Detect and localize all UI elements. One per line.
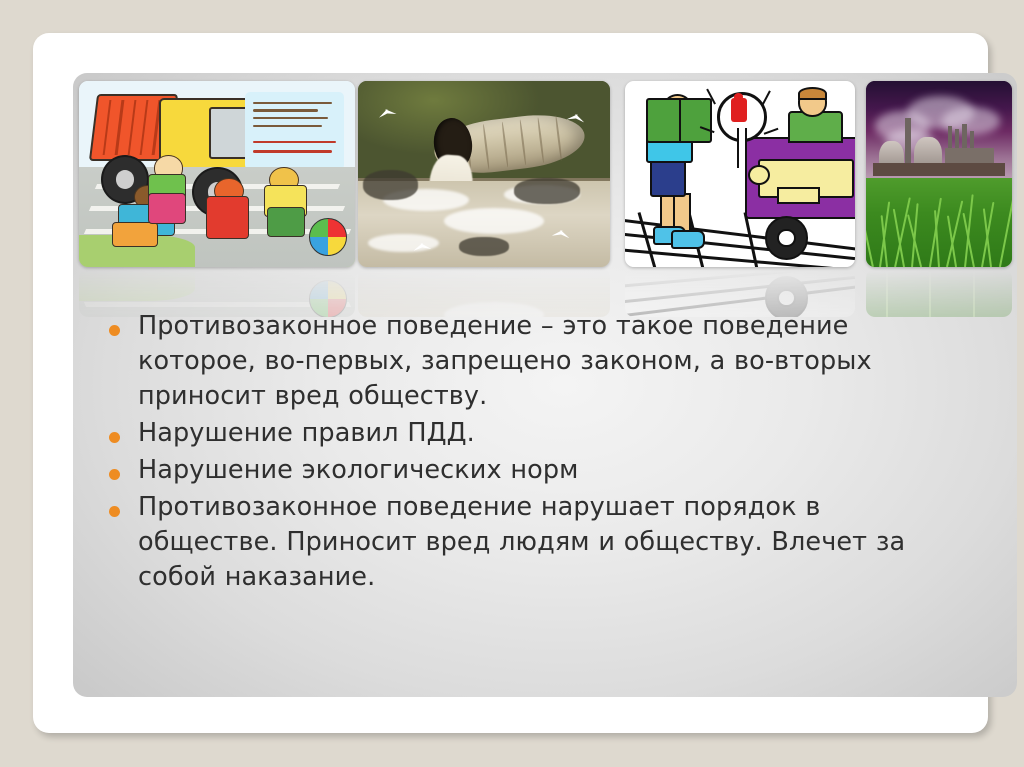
gallery-image-sewage-pipe-discharge[interactable] — [358, 81, 610, 267]
bullet-item: Нарушение экологических норм — [73, 453, 1017, 488]
bullet-text: Противозаконное поведение – это такое по… — [138, 309, 961, 414]
artwork-children-road — [79, 81, 355, 267]
bullet-text: Нарушение экологических норм — [138, 453, 961, 488]
bullet-list: Противозаконное поведение – это такое по… — [73, 309, 1017, 597]
bullet-dot-icon — [109, 469, 120, 480]
gallery-image-power-plant-over-field[interactable] — [866, 81, 1012, 267]
artwork-sewage-pipe — [358, 81, 610, 267]
artwork-boy-reading-road — [625, 81, 855, 267]
slide-card: Противозаконное поведение – это такое по… — [33, 33, 988, 733]
gallery-image-boy-reading-crossing-road[interactable] — [625, 81, 855, 267]
slide-stage: Противозаконное поведение – это такое по… — [0, 0, 1024, 767]
image-gallery — [73, 73, 1017, 285]
bullet-dot-icon — [109, 432, 120, 443]
gallery-image-children-running-into-road[interactable] — [79, 81, 355, 267]
bullet-item: Противозаконное поведение – это такое по… — [73, 309, 1017, 414]
bullet-dot-icon — [109, 506, 120, 517]
artwork-power-plant — [866, 81, 1012, 267]
bullet-text: Нарушение правил ПДД. — [138, 416, 961, 451]
bullet-item: Противозаконное поведение нарушает поряд… — [73, 490, 1017, 595]
content-panel: Противозаконное поведение – это такое по… — [73, 73, 1017, 697]
bullet-text: Противозаконное поведение нарушает поряд… — [138, 490, 961, 595]
bullet-item: Нарушение правил ПДД. — [73, 416, 1017, 451]
bullet-dot-icon — [109, 325, 120, 336]
